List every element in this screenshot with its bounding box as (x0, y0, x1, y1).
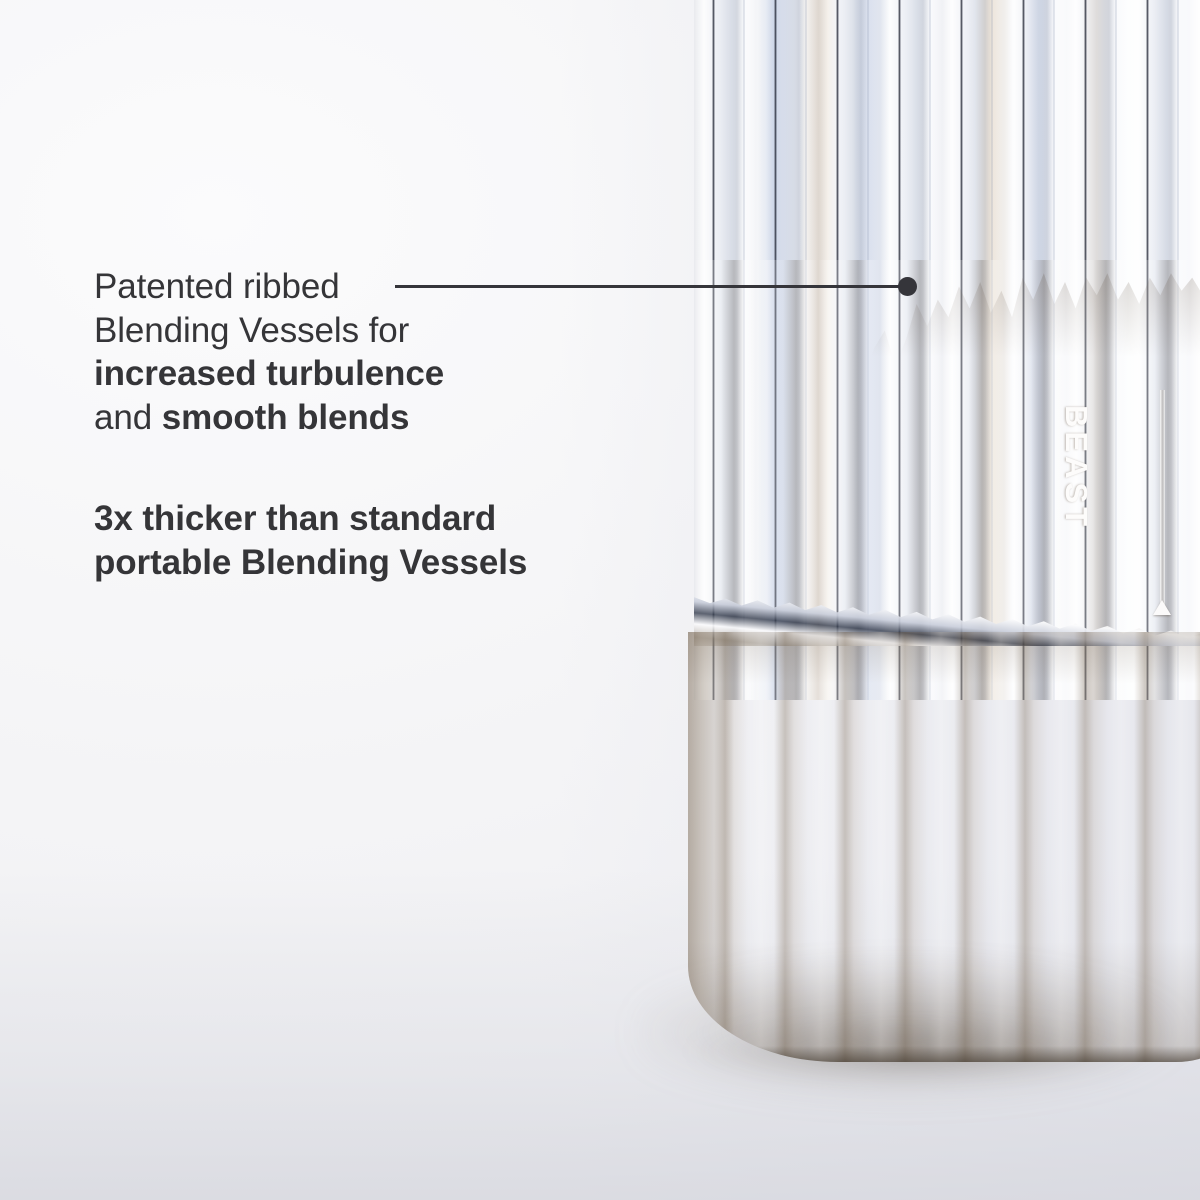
feature-copy: Patented ribbed Blending Vessels for inc… (94, 265, 594, 584)
copy-line-4-emphasis: smooth blends (162, 398, 410, 437)
copy-line-4: and smooth blends (94, 396, 594, 440)
blending-vessel-product: BEAST (660, 0, 1200, 1120)
copy-line-3: increased turbulence (94, 352, 594, 396)
base-vertical-shading (688, 632, 1200, 1062)
feature-paragraph-secondary: 3x thicker than standard portable Blendi… (94, 497, 594, 584)
copy2-line-2: portable Blending Vessels (94, 541, 594, 585)
feature-paragraph-primary: Patented ribbed Blending Vessels for inc… (94, 265, 594, 439)
ribbed-glass-vessel: BEAST (694, 0, 1200, 700)
callout-endpoint-dot (898, 277, 917, 296)
copy-line-2: Blending Vessels for (94, 309, 594, 353)
beast-wordmark: BEAST (1058, 405, 1094, 530)
copy-line-4-prefix: and (94, 398, 162, 437)
copy-line-1: Patented ribbed (94, 265, 594, 309)
product-feature-scene: BEAST Patented ribbed Blending Vessels f… (0, 0, 1200, 1200)
copy2-line-1: 3x thicker than standard (94, 497, 594, 541)
gold-ribbed-base (688, 632, 1200, 1062)
base-bottom-edge-shadow (688, 1046, 1200, 1062)
copy-line-3-emphasis: increased turbulence (94, 354, 444, 393)
